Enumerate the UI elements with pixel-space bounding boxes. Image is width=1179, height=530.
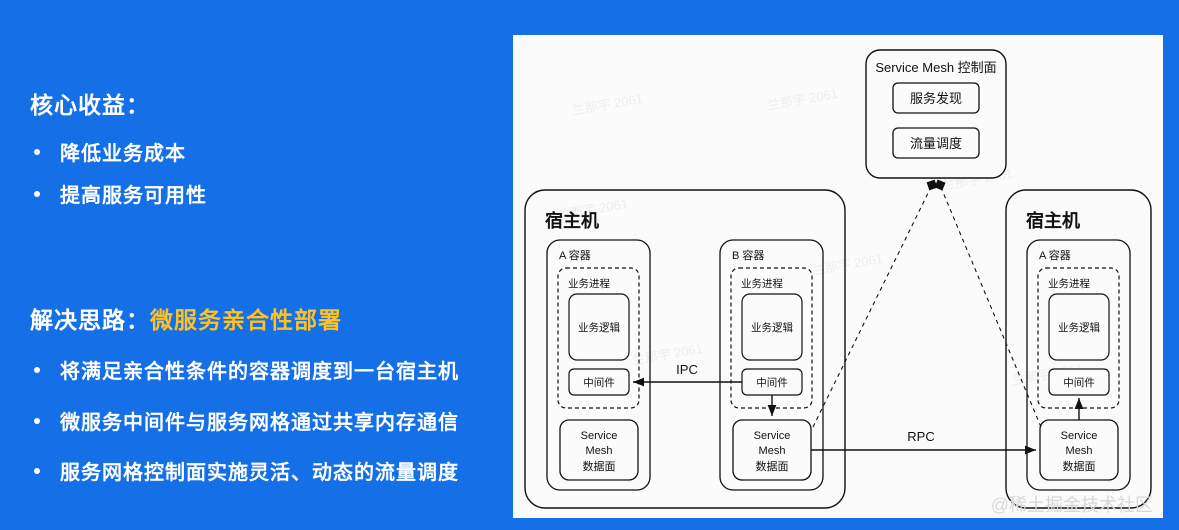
architecture-diagram-svg: 兰那宇 2061 兰那宇 2061 兰那宇 2061 兰那宇 2061 兰那宇 …: [513, 35, 1163, 518]
business-logic-a-right-label: 业务逻辑: [1058, 321, 1100, 334]
background-watermark: 兰那宇 2061: [571, 91, 644, 118]
sidecar-a-left-line1: Service: [581, 430, 618, 442]
container-b-left-title: B 容器: [732, 248, 764, 262]
middleware-b-left-label: 中间件: [756, 376, 788, 389]
benefit-bullet-1-label: 提高服务可用性: [60, 179, 207, 208]
benefit-bullet-0-label: 降低业务成本: [60, 137, 186, 166]
business-process-b-left-label: 业务进程: [741, 277, 783, 290]
solution-bullet-1-label: 微服务中间件与服务网格通过共享内存通信: [60, 406, 459, 435]
solution-heading-prefix: 解决思路：: [30, 307, 150, 333]
bullet-dot-icon: [34, 418, 40, 424]
benefit-bullet-1: 提高服务可用性: [34, 179, 207, 208]
solution-bullet-2: 服务网格控制面实施灵活、动态的流量调度: [34, 456, 459, 485]
container-b-left[interactable]: B 容器 业务进程 业务逻辑 中间件 Service Mesh 数据面: [720, 240, 823, 490]
ipc-edge-label: IPC: [676, 362, 698, 377]
container-a-right-title: A 容器: [1039, 248, 1071, 262]
control-plane-node[interactable]: Service Mesh 控制面 服务发现 流量调度: [866, 50, 1006, 178]
business-process-a-left-label: 业务进程: [568, 277, 610, 290]
solution-bullet-0: 将满足亲合性条件的容器调度到一台宿主机: [34, 355, 459, 384]
bullet-dot-icon: [34, 191, 40, 197]
business-process-a-right-label: 业务进程: [1048, 277, 1090, 290]
sidecar-b-left-line3: 数据面: [756, 459, 789, 473]
left-text-column: 核心收益： 降低业务成本 提高服务可用性 解决思路：微服务亲合性部署 将满足亲合…: [0, 0, 500, 530]
background-watermark: 兰那宇 2061: [766, 86, 839, 113]
control-link-left-dashed: [813, 185, 932, 427]
traffic-scheduling-label: 流量调度: [910, 136, 962, 151]
host-right-node[interactable]: 宿主机 A 容器 业务进程 业务逻辑 中间件 Service Mesh 数据面: [1006, 190, 1151, 508]
sidecar-a-right-line3: 数据面: [1063, 459, 1096, 473]
sidecar-b-left-line2: Mesh: [759, 445, 786, 457]
solution-heading: 解决思路：微服务亲合性部署: [30, 301, 342, 335]
solution-bullet-0-label: 将满足亲合性条件的容器调度到一台宿主机: [60, 355, 459, 384]
slide-root: 核心收益： 降低业务成本 提高服务可用性 解决思路：微服务亲合性部署 将满足亲合…: [0, 0, 1179, 530]
benefit-bullet-0: 降低业务成本: [34, 137, 186, 166]
middleware-a-right-label: 中间件: [1063, 376, 1095, 389]
business-logic-b-left-label: 业务逻辑: [751, 321, 793, 334]
benefits-heading-text: 核心收益：: [30, 92, 150, 118]
background-watermark: 兰那宇 2061: [811, 251, 884, 278]
sidecar-a-left-line2: Mesh: [586, 445, 613, 457]
business-logic-a-left-label: 业务逻辑: [578, 321, 620, 334]
host-left-title: 宿主机: [545, 210, 599, 231]
sidecar-a-right-line2: Mesh: [1066, 445, 1093, 457]
sidecar-b-left-line1: Service: [754, 430, 791, 442]
rpc-edge-label: RPC: [907, 429, 934, 444]
host-right-title: 宿主机: [1026, 210, 1080, 231]
sidecar-a-left-line3: 数据面: [583, 459, 616, 473]
middleware-a-left-label: 中间件: [583, 376, 615, 389]
bullet-dot-icon: [34, 468, 40, 474]
control-plane-title: Service Mesh 控制面: [875, 60, 996, 75]
sidecar-a-right-line1: Service: [1061, 430, 1098, 442]
bullet-dot-icon: [34, 367, 40, 373]
benefits-heading: 核心收益：: [30, 86, 150, 120]
service-discovery-label: 服务发现: [910, 91, 962, 106]
solution-heading-accent: 微服务亲合性部署: [150, 307, 342, 333]
architecture-diagram-panel: 兰那宇 2061 兰那宇 2061 兰那宇 2061 兰那宇 2061 兰那宇 …: [513, 35, 1163, 518]
container-a-left-title: A 容器: [559, 248, 591, 262]
solution-bullet-2-label: 服务网格控制面实施灵活、动态的流量调度: [60, 456, 459, 485]
bullet-dot-icon: [34, 149, 40, 155]
solution-bullet-1: 微服务中间件与服务网格通过共享内存通信: [34, 406, 459, 435]
corner-watermark: @稀土掘金技术社区: [991, 495, 1153, 515]
